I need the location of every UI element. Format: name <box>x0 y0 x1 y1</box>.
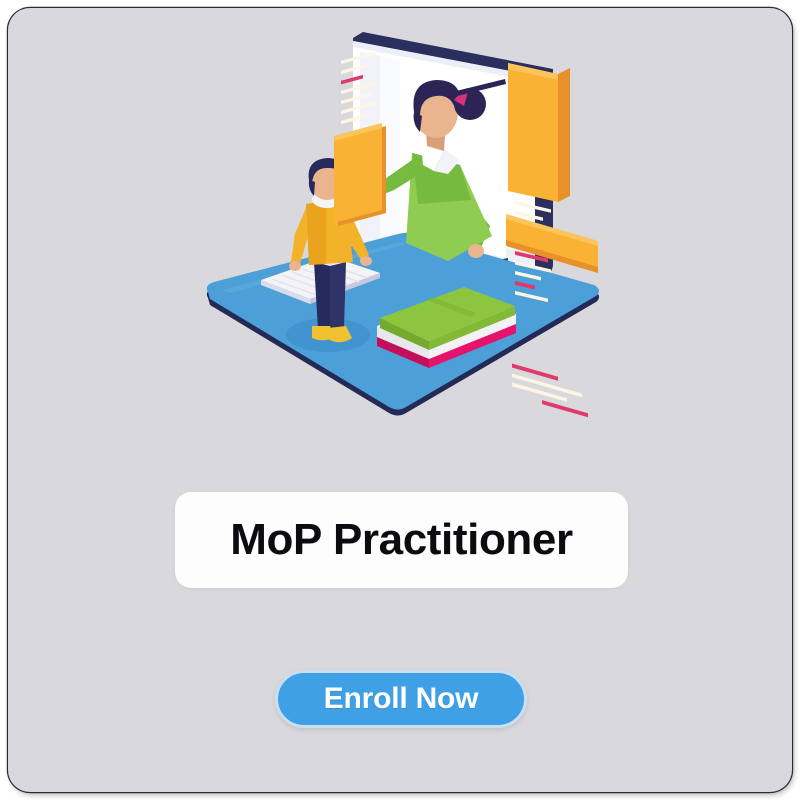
page-title: MoP Practitioner <box>230 515 572 565</box>
isometric-online-learning-illustration <box>8 8 792 438</box>
course-title-plate: MoP Practitioner <box>175 492 628 588</box>
course-promo-card: MoP Practitioner Enroll Now <box>8 8 792 792</box>
enroll-now-label: Enroll Now <box>324 682 479 716</box>
enroll-now-button[interactable]: Enroll Now <box>275 670 527 728</box>
